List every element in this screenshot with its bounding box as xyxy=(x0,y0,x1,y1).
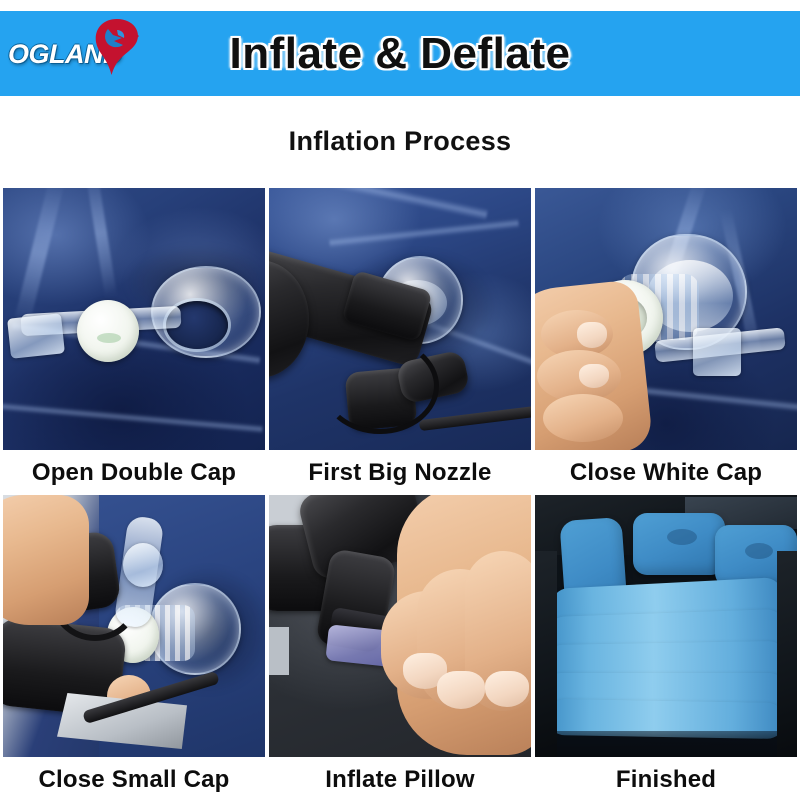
header-banner: OGLAND Inflate & Deflate xyxy=(0,11,800,96)
step-caption-6: Finished xyxy=(535,757,797,800)
step-card-6: Finished xyxy=(535,495,797,800)
photo-first-big-nozzle xyxy=(269,188,531,450)
step-card-2: First Big Nozzle xyxy=(269,188,531,495)
product-infographic: OGLAND Inflate & Deflate Inflation Proce… xyxy=(0,0,800,800)
red-location-pin-logo-icon xyxy=(84,16,146,78)
section-heading: Inflation Process xyxy=(0,126,800,157)
step-caption-5: Inflate Pillow xyxy=(269,757,531,800)
step-caption-1: Open Double Cap xyxy=(3,450,265,495)
step-card-3: Close White Cap xyxy=(535,188,797,495)
brand-logo[interactable]: OGLAND xyxy=(6,13,146,91)
steps-grid: Open Double Cap xyxy=(3,188,797,800)
step-caption-2: First Big Nozzle xyxy=(269,450,531,495)
step-card-1: Open Double Cap xyxy=(3,188,265,495)
step-card-4: Close Small Cap xyxy=(3,495,265,800)
photo-finished xyxy=(535,495,797,757)
step-caption-3: Close White Cap xyxy=(535,450,797,495)
step-card-5: Inflate Pillow xyxy=(269,495,531,800)
photo-close-small-cap xyxy=(3,495,265,757)
photo-open-double-cap xyxy=(3,188,265,450)
photo-inflate-pillow xyxy=(269,495,531,757)
step-caption-4: Close Small Cap xyxy=(3,757,265,800)
photo-close-white-cap xyxy=(535,188,797,450)
